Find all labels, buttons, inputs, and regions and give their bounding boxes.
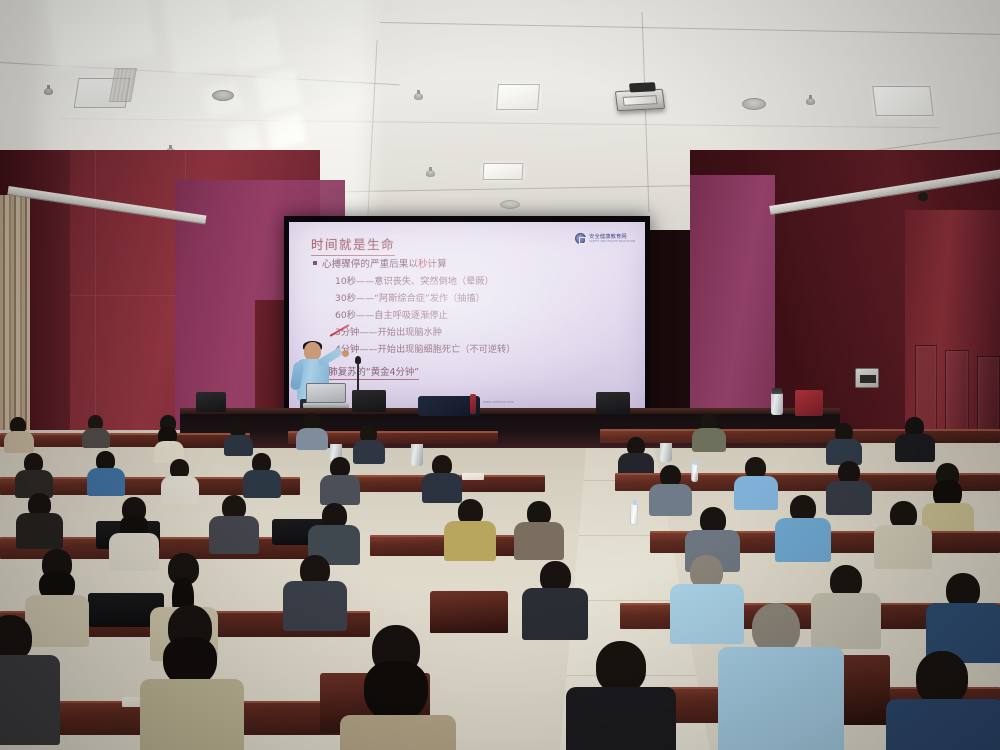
slide-logo: 安全健康教育网 SAFETY AND HEALTH EDUCATION: [575, 233, 635, 244]
monitor-back: [352, 390, 386, 412]
torso: [718, 647, 844, 750]
torso: [649, 484, 692, 516]
hair: [364, 661, 428, 723]
sunlight-patch: [162, 0, 237, 76]
torso: [87, 468, 125, 496]
torso: [320, 475, 360, 505]
torso: [283, 581, 347, 631]
sprinkler-head-icon: [44, 88, 53, 95]
slide-line: 60秒——自主呼吸逐渐停止: [335, 311, 631, 321]
laptop-lid: [306, 383, 346, 403]
slide-line: 4分钟——开始出现脑细胞死亡（不可逆转）: [335, 345, 631, 355]
seal-logo-icon: [575, 233, 586, 244]
torso: [296, 428, 328, 450]
front-table-top: [180, 408, 840, 414]
bullet-text-before: 心搏骤停的严重后果以: [322, 259, 418, 270]
torso: [692, 428, 726, 452]
torso: [243, 470, 281, 498]
torso: [25, 595, 89, 647]
security-camera-icon: [918, 192, 928, 201]
torso: [670, 584, 744, 644]
ceiling-light-panel: [483, 163, 524, 180]
bullet-accent: 秒: [418, 259, 428, 270]
torso: [224, 435, 253, 456]
slide-bullet: 心搏骤停的严重后果以秒计算: [313, 260, 631, 270]
thermos-bottle: [771, 393, 783, 415]
torso: [422, 473, 462, 503]
projector-lens-icon: [623, 95, 658, 106]
torso: [874, 525, 932, 569]
sprinkler-head-icon: [414, 93, 423, 100]
water-bottle: [630, 503, 638, 525]
torso: [522, 588, 588, 640]
torso: [566, 687, 676, 750]
slide-line: 3分钟——开始出现脑水肿: [335, 328, 631, 338]
wall-control-panel[interactable]: [855, 368, 879, 388]
logo-subtitle: SAFETY AND HEALTH EDUCATION: [589, 240, 635, 243]
ceiling-speaker-icon: [742, 98, 766, 110]
torso: [16, 513, 63, 549]
head: [596, 641, 646, 693]
audience: [0, 415, 1000, 750]
projector-mount: [629, 82, 656, 92]
presenter-hand: [342, 350, 349, 357]
water-bottle: [691, 463, 698, 482]
equipment-case: [795, 390, 823, 416]
paper-sheet: [462, 473, 484, 480]
sprinkler-head-icon: [806, 98, 815, 105]
torso: [340, 715, 456, 750]
torso: [140, 679, 244, 750]
red-strap: [470, 394, 476, 414]
torso: [444, 521, 496, 561]
slide-line: 30秒——“阿斯综合症”发作（抽搐）: [335, 294, 631, 304]
torso: [353, 440, 385, 464]
ceiling-light-panel: [496, 84, 540, 110]
photo-scene: 时间就是生命 安全健康教育网 SAFETY AND HEALTH EDUCATI…: [0, 0, 1000, 750]
monitor-back: [596, 392, 630, 414]
head: [752, 603, 800, 653]
torso: [895, 434, 935, 462]
desk-row: [0, 433, 250, 447]
desk-row: [600, 429, 1000, 443]
sprinkler-head-icon: [426, 170, 435, 177]
slide-line: 10秒——意识丧失、突然倒地（晕厥）: [335, 277, 631, 287]
ceiling-light-panel: [872, 86, 934, 116]
presenter-laptop[interactable]: [303, 383, 349, 411]
torso: [109, 533, 159, 571]
slide-title: 时间就是生命: [311, 234, 395, 256]
footer-url: www.safehoo.com: [483, 400, 514, 404]
torso: [4, 431, 34, 453]
torso: [811, 593, 881, 649]
sunlight-patch: [228, 14, 282, 71]
torso: [161, 476, 199, 504]
torso: [775, 518, 831, 562]
bullet-dot-icon: [313, 261, 317, 265]
torso: [734, 476, 778, 510]
ceiling-projector: [615, 89, 665, 111]
laptop-base: [303, 403, 349, 408]
bullet-text-after: 计算: [428, 259, 447, 270]
ceiling-speaker-icon: [500, 200, 520, 209]
torso: [826, 481, 872, 515]
torso: [0, 655, 60, 745]
torso: [514, 522, 564, 560]
chair: [430, 591, 508, 633]
head: [916, 651, 968, 705]
monitor-back: [196, 392, 226, 412]
torso: [82, 428, 110, 448]
torso: [209, 516, 259, 554]
torso: [886, 699, 1000, 750]
ceiling-speaker-icon: [212, 90, 234, 101]
